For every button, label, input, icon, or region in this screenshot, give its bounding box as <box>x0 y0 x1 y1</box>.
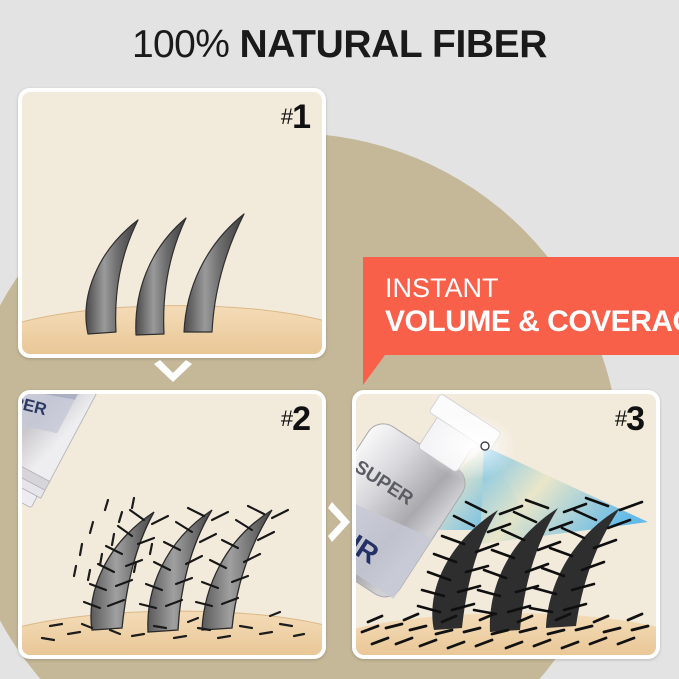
panel-index: 1 <box>292 98 310 136</box>
title-percent: 100% <box>132 23 229 66</box>
chevron-down-icon <box>150 358 196 390</box>
promo-line-instant: INSTANT <box>385 273 671 304</box>
fiber-shaker-icon: SUPER MILLION <box>22 394 322 655</box>
spray-bottle-icon: SUPER HAIR <box>356 394 656 655</box>
promo-banner-text: INSTANT VOLUME & COVERAGE <box>385 273 671 340</box>
step-panel-2[interactable]: SUPER MILLION <box>18 390 326 659</box>
hair-strands-icon <box>22 92 322 354</box>
panel-number-1: #1 <box>281 98 310 137</box>
hash-symbol: # <box>281 406 292 431</box>
title-natural-fiber: NATURAL FIBER <box>240 23 548 66</box>
panel-number-3: #3 <box>615 400 644 439</box>
chevron-right-icon <box>326 498 356 546</box>
panel-index: 2 <box>292 400 310 438</box>
page-title: 100% NATURAL FIBER <box>0 22 679 68</box>
step-panel-3[interactable]: SUPER HAIR <box>352 390 660 659</box>
panel-number-2: #2 <box>281 400 310 439</box>
step-panel-1[interactable]: #1 <box>18 88 326 358</box>
panel-index: 3 <box>626 400 644 438</box>
promo-banner-tail <box>363 355 385 385</box>
infographic-stage: 100% NATURAL FIBER <box>0 0 679 679</box>
promo-banner: INSTANT VOLUME & COVERAGE <box>363 257 679 355</box>
promo-line-volume-coverage: VOLUME & COVERAGE <box>385 304 671 340</box>
hash-symbol: # <box>281 104 292 129</box>
hash-symbol: # <box>615 406 626 431</box>
